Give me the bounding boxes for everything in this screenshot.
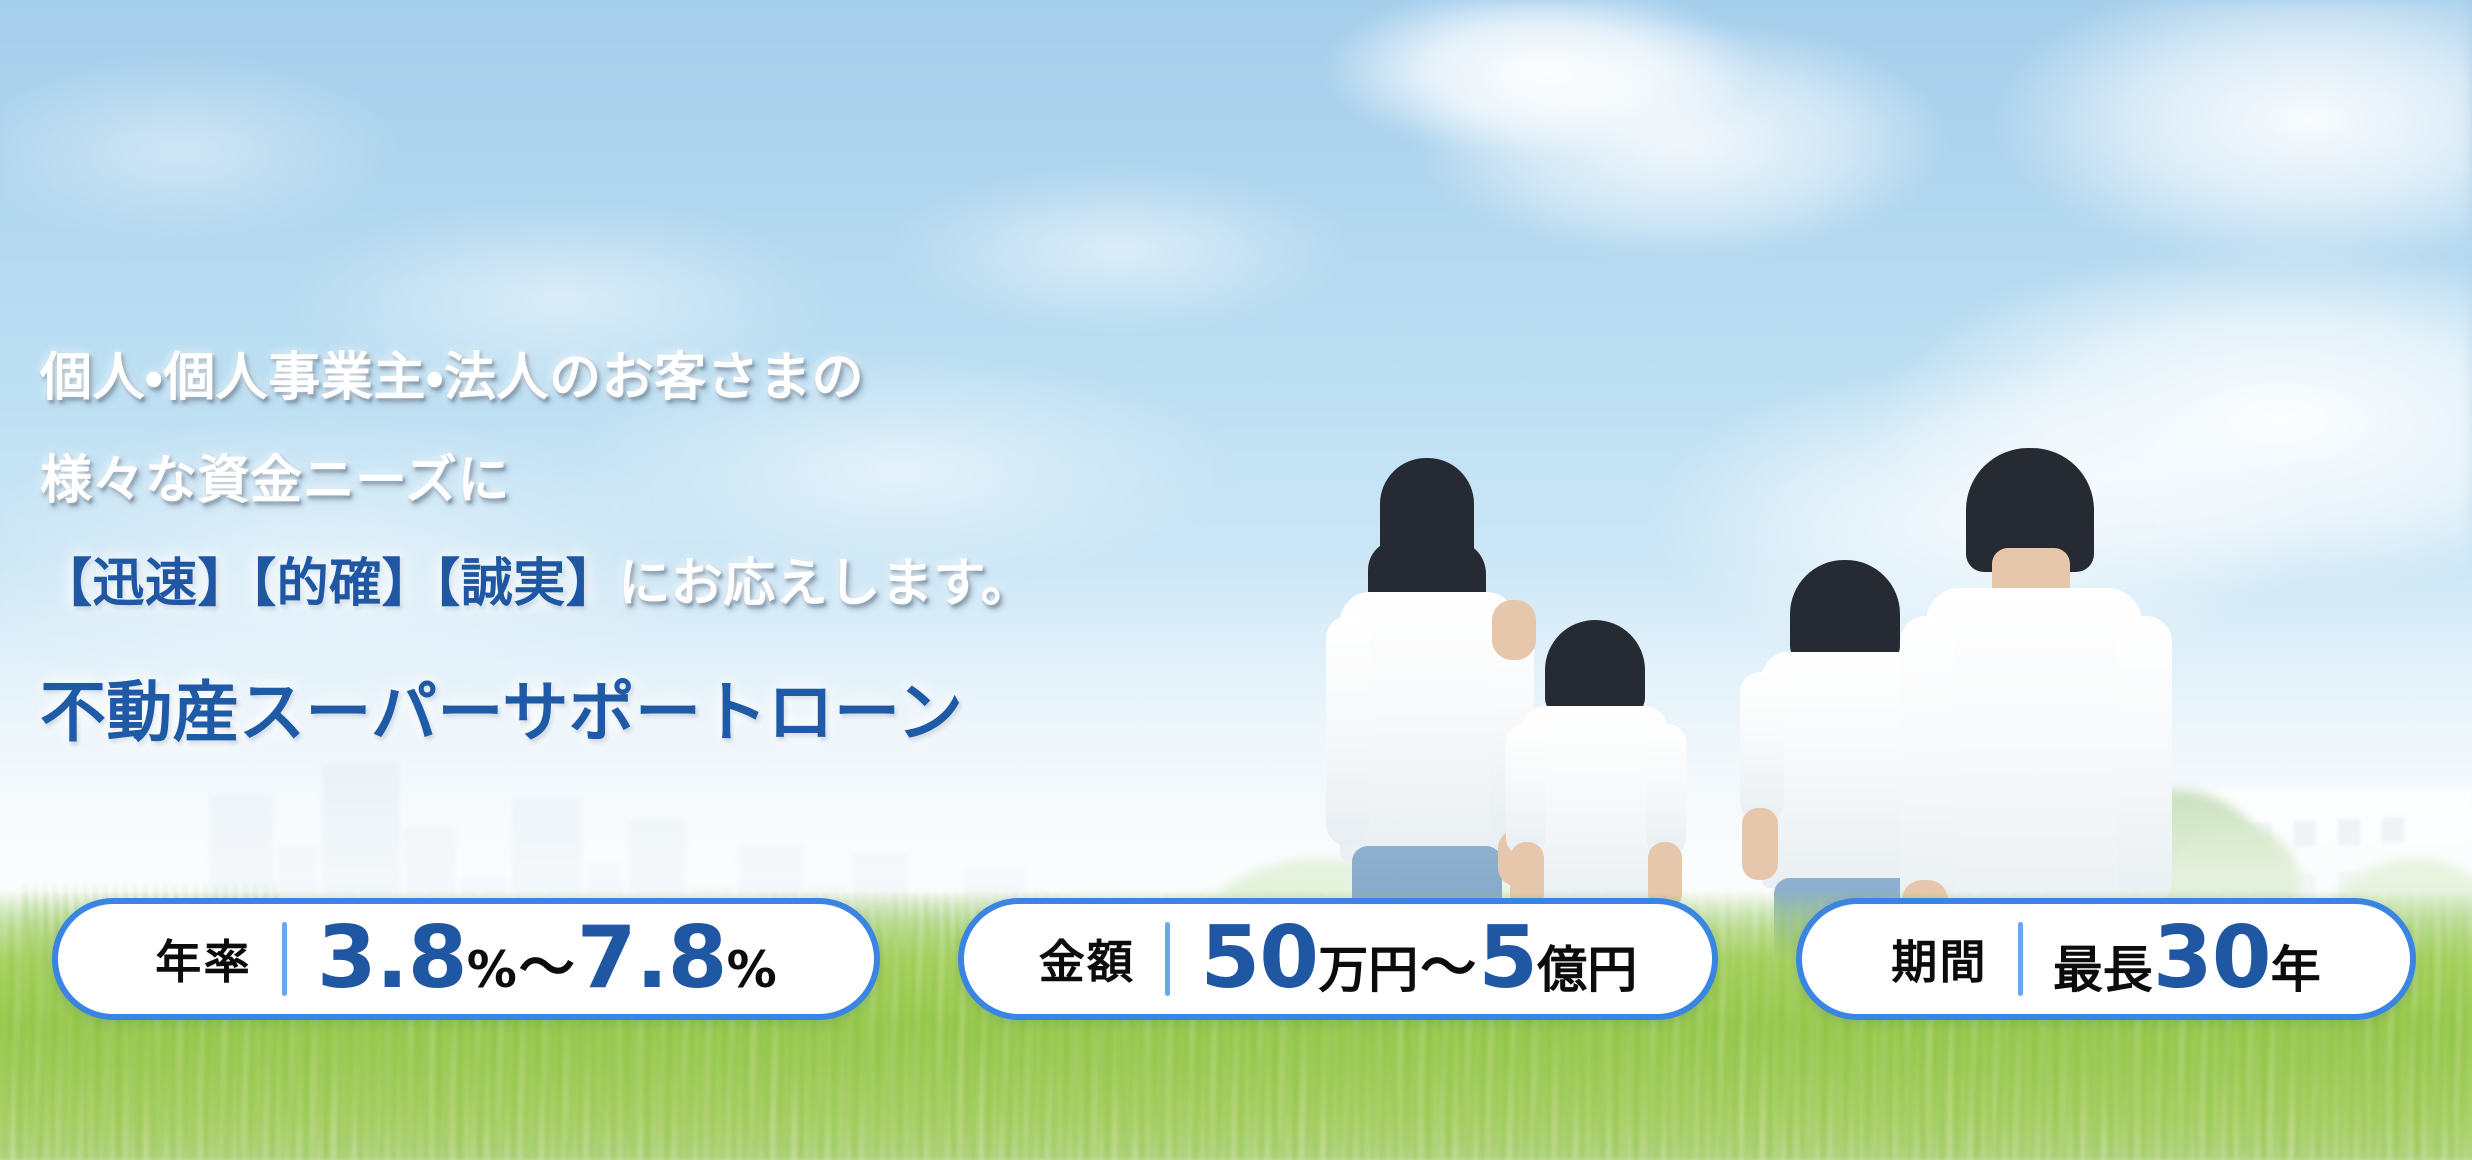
badge-value-loan-term: 最長 30 年 xyxy=(2053,918,2321,1000)
key-facts-badge-row: 年率 3.8 % 〜 7.8 % 金額 50 万円 〜 5 億円 期間 xyxy=(0,884,2472,1034)
amount-min-number: 50 xyxy=(1200,918,1318,1000)
grass-foreground-texture xyxy=(0,1020,2472,1160)
amount-min-unit: 万円 xyxy=(1318,947,1418,995)
badge-divider xyxy=(2018,922,2023,996)
badge-divider xyxy=(1165,922,1170,996)
badge-label-loan-amount: 金額 xyxy=(1039,926,1166,992)
headline-line-1: 個人・個人事業主・法人のお客さまの xyxy=(40,352,1380,405)
product-name-title: 不動産スーパーサポートローン xyxy=(40,659,1380,755)
badge-loan-amount[interactable]: 金額 50 万円 〜 5 億円 xyxy=(958,898,1718,1020)
rate-min-unit: % xyxy=(467,947,517,995)
term-max-number: 30 xyxy=(2153,918,2271,1000)
rate-range-tilde: 〜 xyxy=(517,942,577,995)
hero-banner: 個人・個人事業主・法人のお客さまの 様々な資金ニーズに 【迅速】【的確】【誠実】… xyxy=(0,0,2472,1160)
amount-max-unit: 億円 xyxy=(1537,947,1637,995)
headline-line-3: 【迅速】【的確】【誠実】にお応えします。 xyxy=(40,558,1380,611)
badge-value-loan-amount: 50 万円 〜 5 億円 xyxy=(1200,918,1637,1000)
headline-line-2: 様々な資金ニーズに xyxy=(40,455,1380,508)
badge-value-interest-rate: 3.8 % 〜 7.8 % xyxy=(317,918,777,1000)
headline-copy: 個人・個人事業主・法人のお客さまの 様々な資金ニーズに 【迅速】【的確】【誠実】… xyxy=(40,352,1380,755)
amount-range-tilde: 〜 xyxy=(1418,942,1478,995)
headline-emphasis-terms: 【迅速】【的確】【誠実】 xyxy=(40,554,618,614)
badge-loan-term[interactable]: 期間 最長 30 年 xyxy=(1796,898,2416,1020)
badge-divider xyxy=(282,922,287,996)
badge-interest-rate[interactable]: 年率 3.8 % 〜 7.8 % xyxy=(52,898,880,1020)
term-unit: 年 xyxy=(2271,947,2321,995)
rate-max-unit: % xyxy=(727,947,777,995)
amount-max-number: 5 xyxy=(1478,918,1537,1000)
term-prefix: 最長 xyxy=(2053,947,2153,995)
headline-line-3-plain: にお応えします。 xyxy=(618,554,1033,614)
rate-max-number: 7.8 xyxy=(577,918,727,1000)
badge-label-interest-rate: 年率 xyxy=(155,926,282,992)
badge-label-loan-term: 期間 xyxy=(1891,926,2018,992)
rate-min-number: 3.8 xyxy=(317,918,467,1000)
